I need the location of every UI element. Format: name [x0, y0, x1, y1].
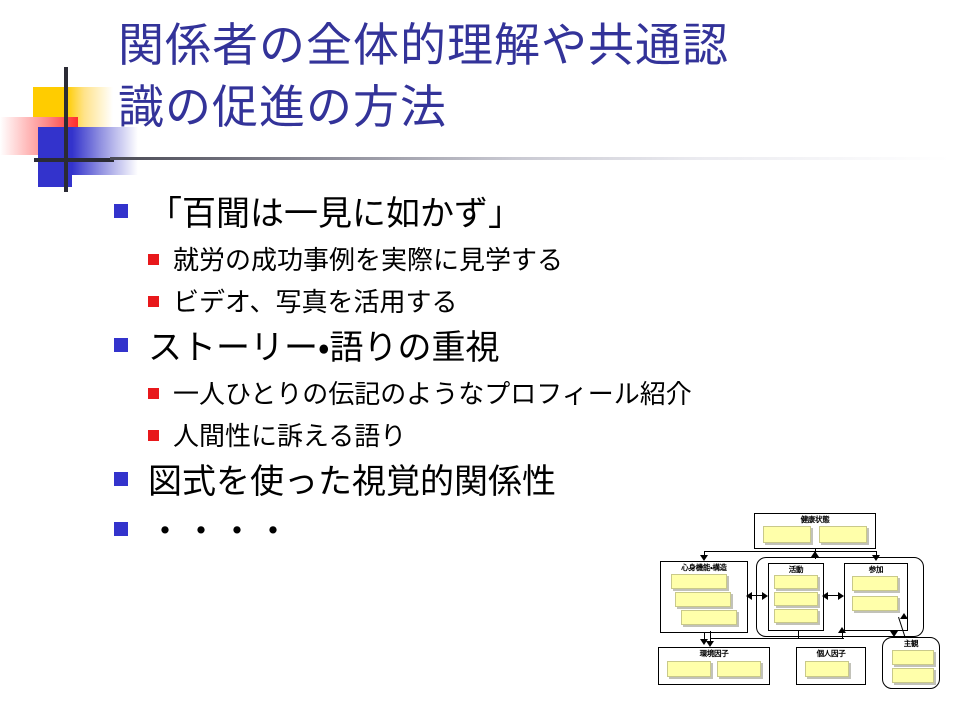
bullet-list: 「百聞は一見に如かず」 就労の成功事例を実際に見学する ビデオ、写真を活用する …	[104, 190, 894, 558]
icf-arrow-up-icon	[838, 627, 846, 633]
icf-arrow-right-icon	[838, 592, 844, 600]
icf-edge-bus	[798, 631, 799, 639]
icf-diagram: 健康状態 心身機能・構造 活動 参加 環境因子	[648, 505, 956, 717]
icf-arrow-down-icon	[700, 555, 708, 561]
icf-note	[763, 526, 811, 543]
icf-node-bodyfunction: 心身機能・構造	[660, 561, 748, 633]
icf-note	[805, 661, 849, 677]
bullet-level2[interactable]: 就労の成功事例を実際に見学する	[104, 240, 894, 280]
bullet-level2-label: ビデオ、写真を活用する	[173, 282, 457, 322]
icf-note	[774, 575, 818, 589]
icf-arrow-down-icon	[706, 641, 714, 647]
icf-node-subjective-label: 主観	[883, 639, 939, 648]
icf-note	[892, 650, 934, 665]
icf-arrow-up-icon	[900, 613, 908, 619]
deco-horizontal-line	[34, 158, 114, 162]
bullet-marker-square-red	[148, 254, 159, 265]
bullet-marker-square-red	[148, 388, 159, 399]
bullet-marker-square-red	[148, 296, 159, 307]
bullet-level1-label: 「百聞は一見に如かず」	[148, 190, 522, 238]
icf-edge-environment-activity	[710, 631, 711, 639]
bullet-level2-label: 一人ひとりの伝記のようなプロフィール紹介	[173, 374, 692, 414]
icf-edge-health-bodyfunction	[704, 551, 816, 552]
deco-vertical-line	[64, 67, 68, 192]
icf-note	[852, 596, 898, 611]
icf-note	[717, 661, 761, 677]
bullet-level1-label: ・・・・	[148, 508, 292, 556]
icf-edge-health-participation	[815, 551, 877, 552]
icf-note	[819, 526, 867, 543]
icf-node-health-label: 健康状態	[755, 515, 875, 524]
icf-node-personal: 個人因子	[796, 647, 866, 685]
icf-node-participation-label: 参加	[845, 565, 907, 574]
icf-edge-bus	[710, 638, 844, 639]
icf-note	[675, 592, 731, 607]
bullet-level2-label: 就労の成功事例を実際に見学する	[173, 240, 563, 280]
icf-note	[667, 661, 711, 677]
bullet-level2-label: 人間性に訴える語り	[173, 416, 406, 456]
icf-node-activity-label: 活動	[769, 565, 823, 574]
bullet-level1-label: ストーリー・語りの重視	[148, 324, 500, 372]
icf-arrow-down-icon	[872, 555, 880, 561]
icf-node-environment-label: 環境因子	[659, 649, 769, 658]
bullet-level2[interactable]: 一人ひとりの伝記のようなプロフィール紹介	[104, 374, 894, 414]
icf-note	[671, 574, 727, 589]
bullet-level1[interactable]: 「百聞は一見に如かず」	[104, 190, 894, 238]
bullet-marker-square-red	[148, 430, 159, 441]
icf-arrow-left-icon	[746, 592, 752, 600]
slide-canvas: 関係者の全体的理解や共通認 識の促進の方法 「百聞は一見に如かず」 就労の成功事…	[0, 0, 960, 720]
icf-node-environment: 環境因子	[658, 647, 770, 685]
icf-arrow-right-icon	[762, 592, 768, 600]
bullet-level1[interactable]: ストーリー・語りの重視	[104, 324, 894, 372]
bullet-level1-label: 図式を使った視覚的関係性	[148, 458, 556, 506]
bullet-marker-square-blue	[114, 204, 128, 218]
bullet-level1[interactable]: 図式を使った視覚的関係性	[104, 458, 894, 506]
icf-node-subjective: 主観	[882, 637, 940, 689]
icf-note	[774, 609, 818, 623]
bullet-marker-square-blue	[114, 338, 128, 352]
bullet-marker-square-blue	[114, 472, 128, 486]
icf-note	[892, 668, 934, 683]
icf-note	[852, 576, 898, 591]
bullet-marker-square-blue	[114, 522, 128, 536]
title-underline-rule	[110, 157, 950, 160]
icf-node-health: 健康状態	[754, 513, 876, 549]
icf-arrow-down-icon	[890, 631, 898, 637]
icf-node-activity: 活動	[768, 563, 824, 631]
icf-note	[774, 592, 818, 606]
slide-title: 関係者の全体的理解や共通認 識の促進の方法	[118, 14, 928, 138]
bullet-level2[interactable]: 人間性に訴える語り	[104, 416, 894, 456]
icf-node-bodyfunction-label: 心身機能・構造	[661, 563, 747, 572]
bullet-level2[interactable]: ビデオ、写真を活用する	[104, 282, 894, 322]
icf-node-personal-label: 個人因子	[797, 649, 865, 658]
icf-arrow-left-icon	[822, 592, 828, 600]
icf-note	[681, 610, 737, 625]
